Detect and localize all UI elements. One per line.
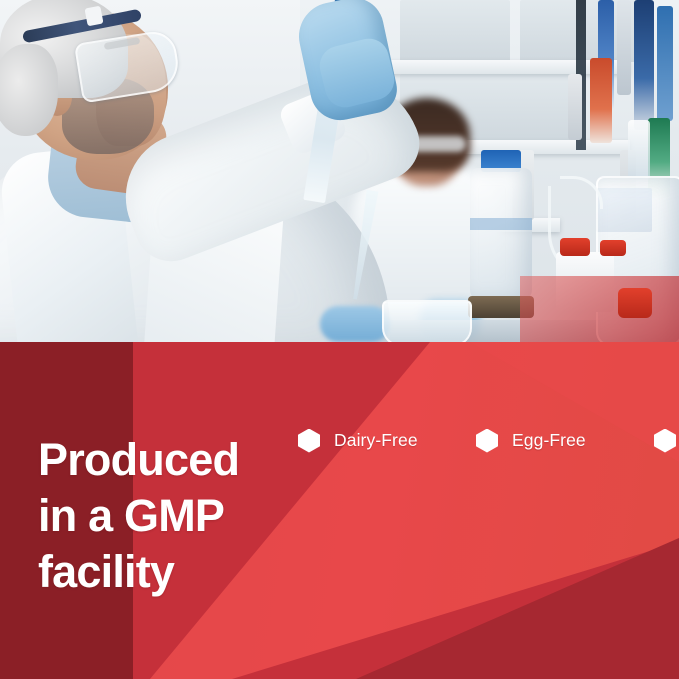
headline-line-1: Produced <box>38 432 288 488</box>
blue-glove <box>320 306 390 342</box>
glass-beaker <box>382 300 472 342</box>
feature-label: Dairy-Free <box>334 430 418 451</box>
headline-line-3: facility <box>38 544 288 600</box>
list-item: Egg-Free <box>476 429 654 453</box>
goggles-strap-clip <box>84 6 103 27</box>
headline-line-2: in a GMP <box>38 488 288 544</box>
scientist-hair <box>0 44 58 136</box>
bottle-label <box>470 218 532 230</box>
reagent-bottle <box>590 58 612 143</box>
hexagon-bullet-icon <box>476 429 498 453</box>
feature-label: Egg-Free <box>512 430 586 451</box>
reagent-bottle <box>657 6 673 121</box>
list-item: Halal <box>654 429 679 453</box>
list-item: Dairy-Free <box>298 429 476 453</box>
reagent-bottle <box>617 0 631 95</box>
feature-claims-list: Dairy-Free Egg-Free Halal Gluten-Free No… <box>298 418 668 463</box>
product-infographic-banner: Produced in a GMP facility Dairy-Free Eg… <box>0 0 679 679</box>
reagent-bottle <box>634 0 654 130</box>
hexagon-bullet-icon <box>654 429 676 453</box>
red-tray <box>520 276 679 342</box>
hexagon-bullet-icon <box>298 429 320 453</box>
gmp-claims-panel: Produced in a GMP facility Dairy-Free Eg… <box>0 342 679 679</box>
red-cap <box>600 240 626 256</box>
page-title: Produced in a GMP facility <box>38 432 288 599</box>
lab-photo <box>0 0 679 342</box>
cabinet <box>400 0 510 62</box>
flask-neck <box>628 120 650 180</box>
reagent-bottle <box>568 74 582 140</box>
red-cap <box>560 238 590 256</box>
red-cap <box>618 288 652 318</box>
